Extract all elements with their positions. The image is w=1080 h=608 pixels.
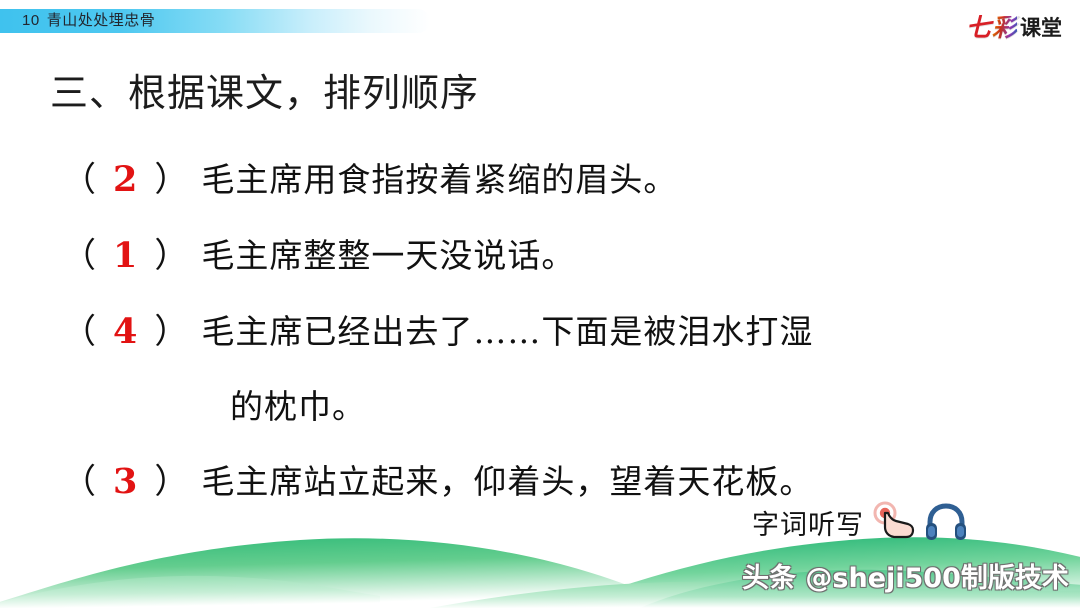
answer-number[interactable]: 4 [97,311,154,352]
lesson-title: 青山处处埋忠骨 [47,12,156,29]
question-text: 毛主席已经出去了……下面是被泪水打湿 [201,312,813,351]
answer-number[interactable]: 2 [97,159,154,200]
brand-logo: 七 彩 课堂 [940,10,1062,46]
question-list: （2）毛主席用食指按着紧缩的眉头。 （1）毛主席整整一天没说话。 （4）毛主席已… [62,142,1042,520]
open-paren: （ [62,312,97,352]
open-paren: （ [62,236,97,276]
close-paren: ） [154,236,189,276]
lesson-header: 10青山处处埋忠骨 [22,9,155,33]
question-text: 毛主席站立起来，仰着头，望着天花板。 [201,462,813,501]
answer-number[interactable]: 3 [97,461,154,502]
slide-canvas: 10青山处处埋忠骨 七 彩 课堂 三、根据课文，排列顺序 （2）毛主席用食指按着… [0,0,1080,608]
question-text: 毛主席用食指按着紧缩的眉头。 [201,160,677,199]
brand-word-ketang: 课堂 [1020,18,1062,39]
answer-number[interactable]: 1 [97,235,154,276]
question-row-continuation: 的枕巾。 [62,370,1042,444]
brand-char-cai: 彩 [992,16,1017,41]
question-row: （2）毛主席用食指按着紧缩的眉头。 [62,142,1042,218]
close-paren: ） [154,312,189,352]
tap-hand-icon[interactable] [870,500,918,544]
close-paren: ） [154,462,189,502]
question-row: （4）毛主席已经出去了……下面是被泪水打湿 [62,294,1042,370]
watermark-text: 头条 @sheji500制版技术 [742,556,1069,595]
open-paren: （ [62,160,97,200]
brand-char-qi: 七 [966,16,991,41]
close-paren: ） [154,160,189,200]
headphones-icon[interactable] [924,502,968,542]
question-row: （1）毛主席整整一天没说话。 [62,218,1042,294]
section-heading: 三、根据课文，排列顺序 [50,62,479,117]
question-text: 毛主席整整一天没说话。 [201,236,575,275]
lesson-number: 10 [22,12,40,29]
dictation-control[interactable]: 字词听写 [752,500,968,544]
question-text-continued: 的枕巾。 [230,387,366,426]
open-paren: （ [62,462,97,502]
dictation-label: 字词听写 [752,503,864,542]
